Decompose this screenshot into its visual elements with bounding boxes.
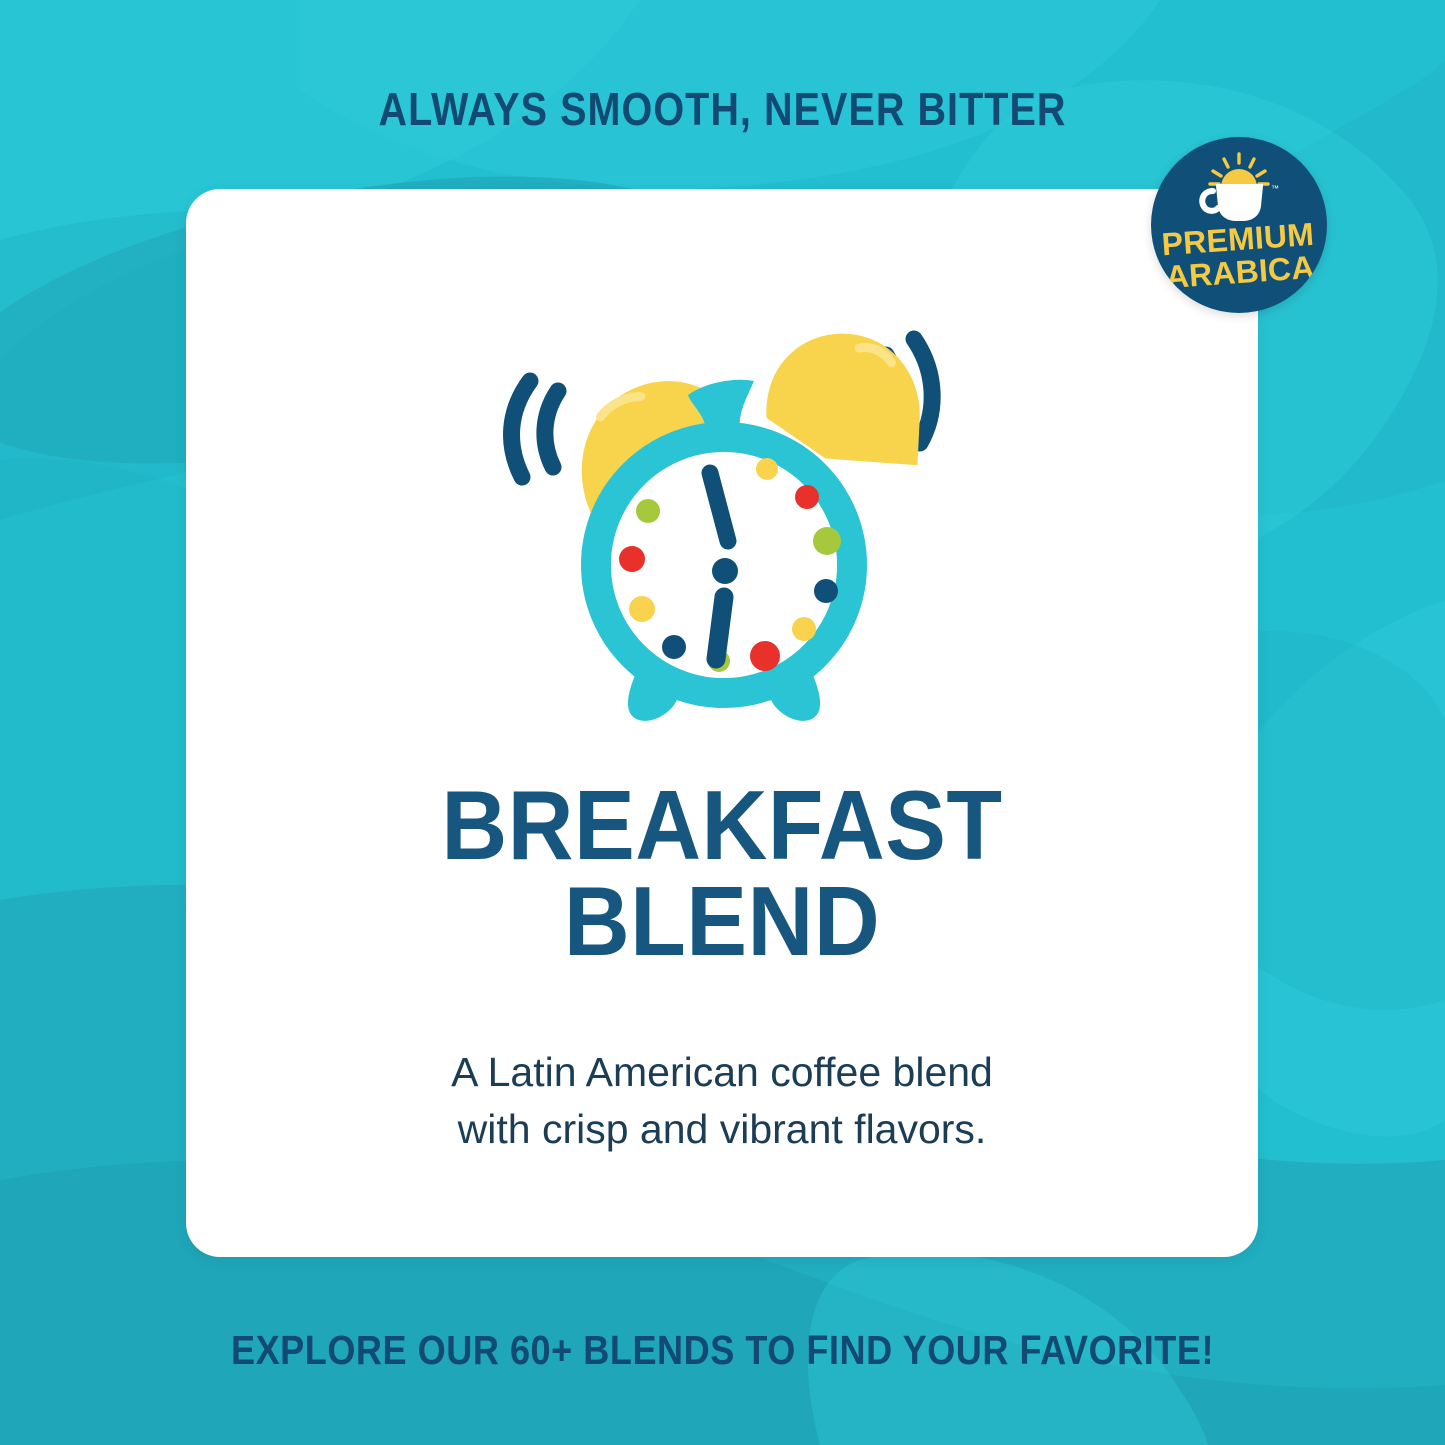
headline-tagline: ALWAYS SMOOTH, NEVER BITTER <box>101 82 1344 136</box>
coffee-cup-sunrise-icon: ™ <box>1191 151 1287 225</box>
product-title-line1: BREAKFAST <box>224 777 1221 873</box>
alarm-clock-illustration <box>186 319 1258 739</box>
product-description: A Latin American coffee blend with crisp… <box>186 1044 1258 1157</box>
trademark-mark: ™ <box>1271 184 1279 193</box>
premium-arabica-badge: ™ PREMIUM ARABICA <box>1151 137 1327 313</box>
alarm-clock-icon <box>482 319 962 739</box>
coffee-product-poster: ALWAYS SMOOTH, NEVER BITTER <box>0 0 1445 1445</box>
product-card: BREAKFAST BLEND A Latin American coffee … <box>186 189 1258 1257</box>
product-title: BREAKFAST BLEND <box>224 777 1221 969</box>
badge-text: PREMIUM ARABICA <box>1151 217 1327 294</box>
footer-cta-text: EXPLORE OUR 60+ BLENDS TO FIND YOUR FAVO… <box>87 1327 1359 1374</box>
product-title-line2: BLEND <box>224 873 1221 969</box>
product-description-line2: with crisp and vibrant flavors. <box>186 1101 1258 1158</box>
product-description-line1: A Latin American coffee blend <box>186 1044 1258 1101</box>
